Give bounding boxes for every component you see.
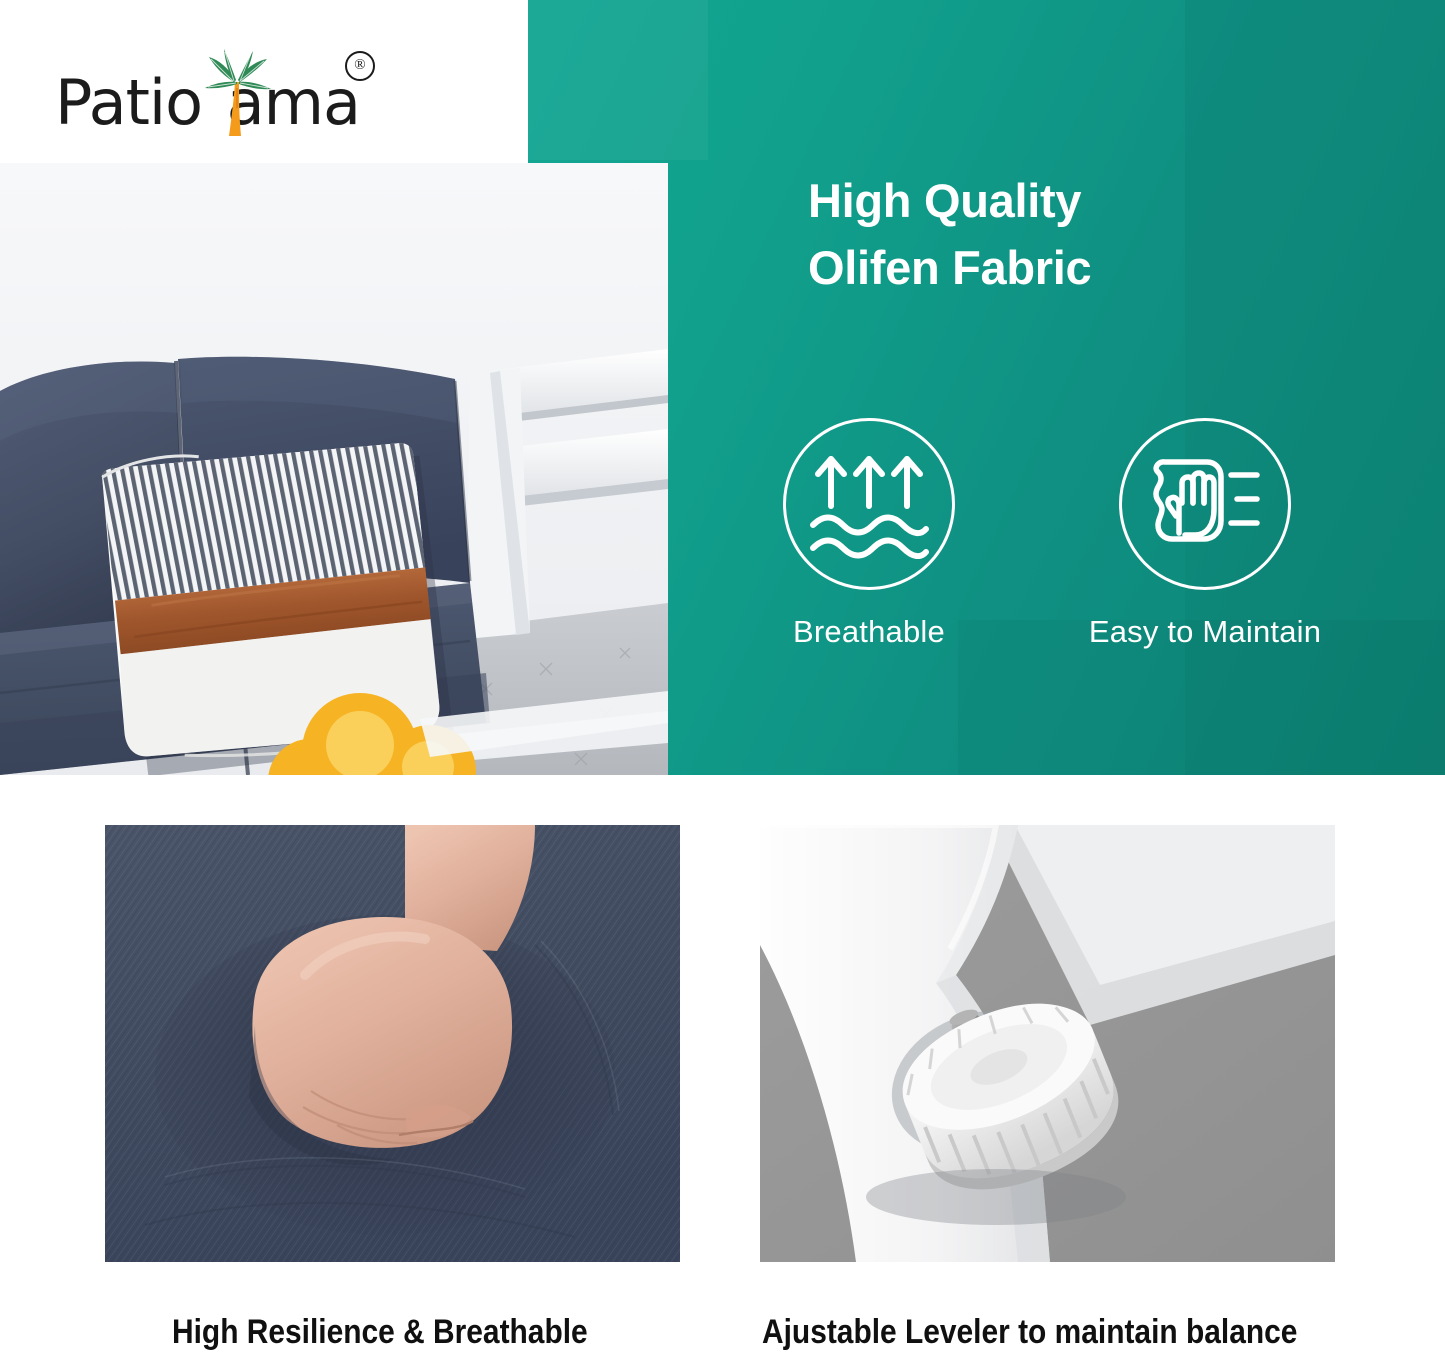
registered-trademark-icon: ®: [345, 51, 375, 81]
fist-in-cushion-illustration: [105, 825, 680, 1262]
breathable-airflow-icon: [809, 449, 929, 559]
caption-adjustable-leveler: Ajustable Leveler to maintain balance: [762, 1313, 1297, 1352]
caption-high-resilience: High Resilience & Breathable: [172, 1313, 588, 1352]
feature-breathable: Breathable: [760, 418, 978, 650]
feature-easy-to-maintain-label: Easy to Maintain: [1089, 614, 1321, 650]
headline-line-2: Olifen Fabric: [808, 235, 1388, 302]
easy-to-maintain-icon-circle: [1119, 418, 1291, 590]
hero-headline: High Quality Olifen Fabric: [808, 168, 1388, 301]
hero-sofa-photo: [0, 163, 668, 775]
hand-wipe-clean-icon: [1145, 449, 1265, 559]
feature-list: Breathable: [760, 418, 1380, 650]
feature-breathable-label: Breathable: [793, 614, 945, 650]
brand-logo: Patiorama ®: [55, 48, 385, 138]
teal-highlight-block: [528, 0, 708, 160]
adjustable-leveler-photo: [760, 825, 1335, 1262]
palm-tree-icon: [201, 48, 275, 140]
brand-name-part-1: Patio: [55, 66, 202, 139]
product-marketing-image: High Quality Olifen Fabric: [0, 0, 1445, 1362]
headline-line-1: High Quality: [808, 174, 1081, 227]
high-resilience-photo: [105, 825, 680, 1262]
feature-easy-to-maintain: Easy to Maintain: [1096, 418, 1314, 650]
leveler-foot-illustration: [760, 825, 1335, 1262]
navy-sofa-illustration: [0, 163, 668, 775]
breathable-icon-circle: [783, 418, 955, 590]
